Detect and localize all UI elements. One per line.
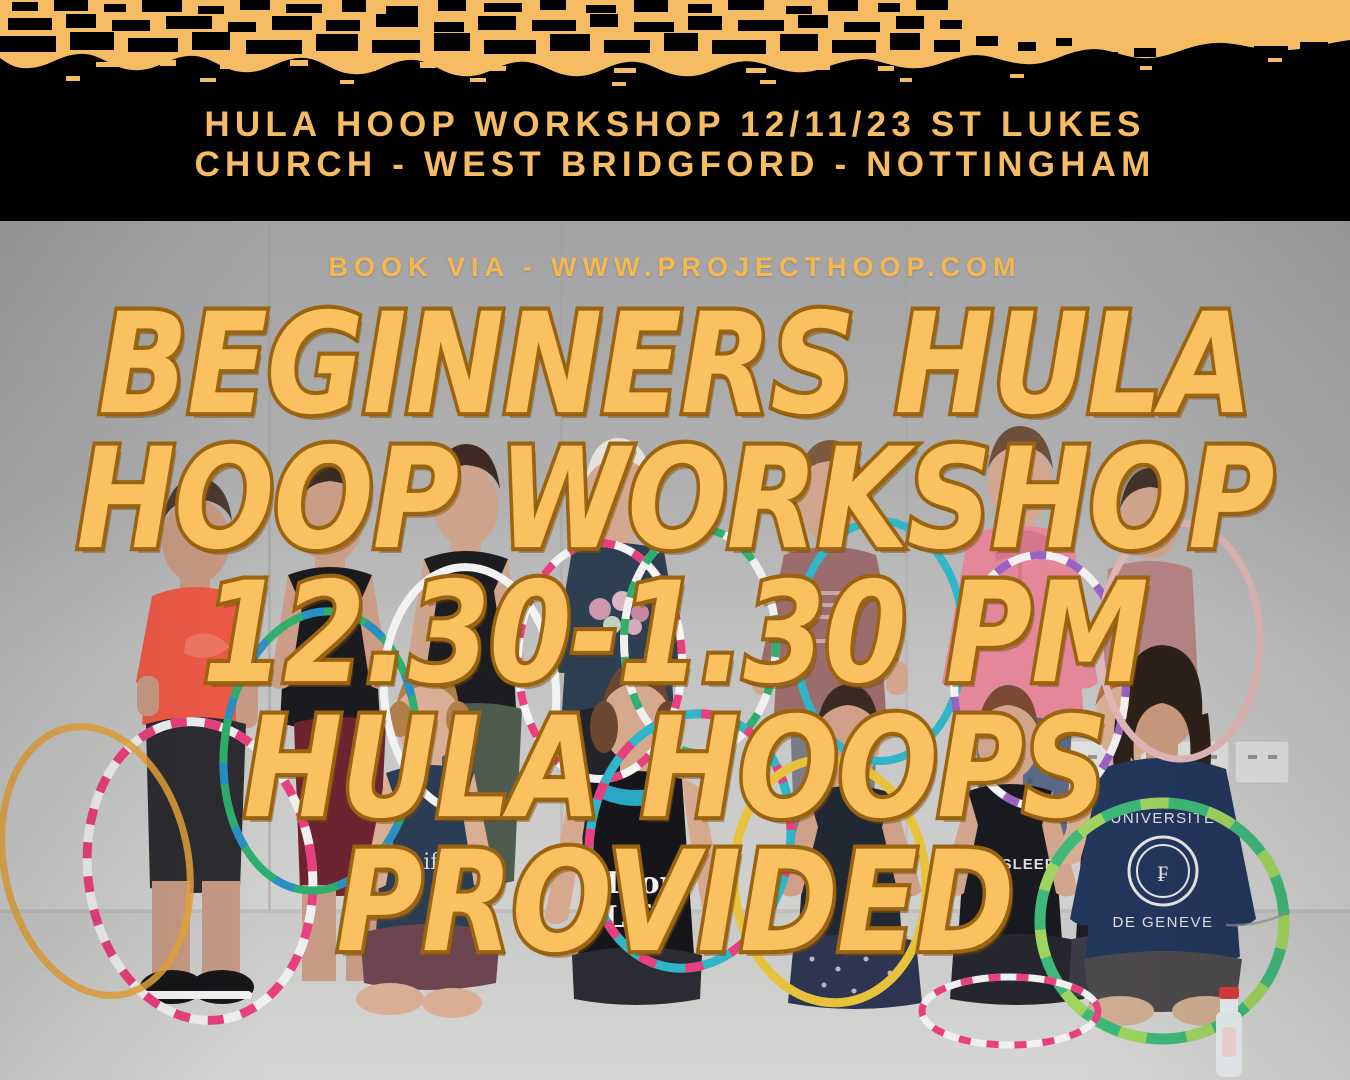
top-banner: HULA HOOP WORKSHOP 12/11/23 ST LUKES CHU… <box>0 0 1350 221</box>
booking-line[interactable]: BOOK VIA - WWW.PROJECTHOOP.COM <box>0 252 1350 283</box>
studio-photo: Life Hoop Life <box>0 221 1350 1080</box>
banner-headline: HULA HOOP WORKSHOP 12/11/23 ST LUKES CHU… <box>0 105 1350 185</box>
banner-line-2: CHURCH - WEST BRIDGFORD - NOTTINGHAM <box>0 145 1350 185</box>
grunge-texture-icon <box>0 0 1350 112</box>
poster-root: Life Hoop Life <box>0 0 1350 1080</box>
banner-line-1: HULA HOOP WORKSHOP 12/11/23 ST LUKES <box>0 105 1350 145</box>
